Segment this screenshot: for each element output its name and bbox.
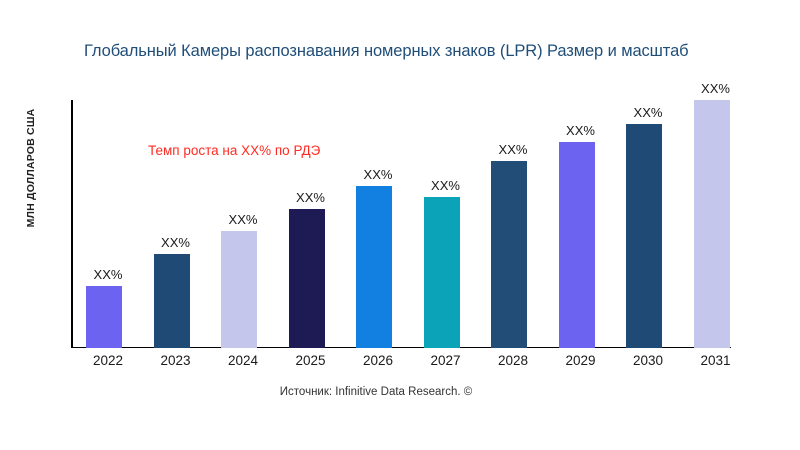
bar[interactable]	[356, 186, 392, 348]
bar-group: XX%	[479, 100, 547, 348]
x-tick-label-2030: 2030	[614, 353, 682, 368]
bar[interactable]	[154, 254, 190, 348]
bar-group: XX%	[74, 100, 142, 348]
bar-value-label: XX%	[74, 267, 142, 282]
x-tick-label-2027: 2027	[412, 353, 480, 368]
bar-value-label: XX%	[209, 212, 277, 227]
bar-group: XX%	[344, 100, 412, 348]
x-tick-label-2022: 2022	[74, 353, 142, 368]
x-tick-label-2025: 2025	[277, 353, 345, 368]
bar-value-label: XX%	[412, 178, 480, 193]
page-title: Глобальный Камеры распознавания номерных…	[84, 42, 800, 61]
bar-group: XX%	[412, 100, 480, 348]
bar[interactable]	[559, 142, 595, 348]
x-tick-label-2028: 2028	[479, 353, 547, 368]
bar[interactable]	[491, 161, 527, 348]
bar-group: XX%	[209, 100, 277, 348]
chart-container: Глобальный Камеры распознавания номерных…	[0, 0, 800, 450]
bar-value-label: XX%	[344, 167, 412, 182]
bar-value-label: XX%	[682, 81, 750, 96]
x-tick-label-2024: 2024	[209, 353, 277, 368]
bar[interactable]	[694, 100, 730, 348]
bar[interactable]	[626, 124, 662, 348]
bar-value-label: XX%	[547, 123, 615, 138]
source-note: Источник: Infinitive Data Research. ©	[0, 386, 752, 398]
bar-value-label: XX%	[614, 105, 682, 120]
x-tick-label-2026: 2026	[344, 353, 412, 368]
bar-group: XX%	[277, 100, 345, 348]
bar[interactable]	[221, 231, 257, 348]
bar-series: XX%XX%XX%XX%XX%XX%XX%XX%XX%XX%	[71, 100, 800, 348]
bar-group: XX%	[547, 100, 615, 348]
bar-value-label: XX%	[479, 142, 547, 157]
x-tick-label-2029: 2029	[547, 353, 615, 368]
x-tick-label-2031: 2031	[682, 353, 750, 368]
x-axis-tick-labels: 2022202320242025202620272028202920302031	[71, 353, 800, 375]
bar-value-label: XX%	[277, 190, 345, 205]
bar-group: XX%	[142, 100, 210, 348]
y-axis-title: МЛН ДОЛЛАРОВ США	[25, 68, 37, 268]
x-tick-label-2023: 2023	[142, 353, 210, 368]
bar-value-label: XX%	[142, 235, 210, 250]
bar-group: XX%	[682, 100, 750, 348]
bar[interactable]	[289, 209, 325, 348]
bar[interactable]	[86, 286, 122, 348]
bar[interactable]	[424, 197, 460, 348]
bar-group: XX%	[614, 100, 682, 348]
